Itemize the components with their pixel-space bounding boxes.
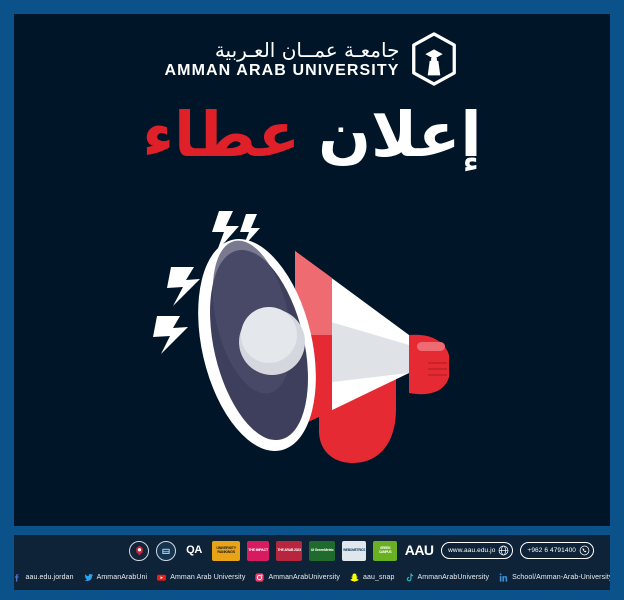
social-label-linkedin: School/Amman-Arab-University bbox=[512, 574, 610, 581]
social-link-snapchat[interactable]: aau_snap bbox=[349, 572, 395, 583]
youtube-icon bbox=[156, 572, 167, 583]
green-campus-label: GREEN CAMPUS bbox=[374, 547, 396, 554]
social-label-youtube: Amman Arab University bbox=[170, 574, 245, 581]
the-impact-label: THE IMPACT bbox=[248, 549, 268, 553]
jordan-emblem-icon bbox=[133, 544, 146, 557]
university-logo-header: جامعـة عمــان العـربية AMMAN ARAB UNIVER… bbox=[14, 14, 610, 98]
facebook-icon bbox=[14, 572, 22, 583]
phone-icon bbox=[579, 545, 590, 556]
hcac-badge bbox=[156, 541, 176, 561]
globe-icon bbox=[498, 545, 509, 556]
snapchat-icon bbox=[349, 572, 360, 583]
the-arab-label: THE ARAB 2023 bbox=[277, 549, 300, 553]
website-badge[interactable]: www.aau.edu.jo bbox=[441, 542, 513, 559]
university-ranking-label: UNIVERSITY RANKINGS bbox=[213, 547, 239, 555]
social-label-instagram: AmmanArabUniversity bbox=[268, 574, 340, 581]
social-link-youtube[interactable]: Amman Arab University bbox=[156, 572, 245, 583]
illustration-container bbox=[14, 166, 610, 526]
aau-monogram-label: AAU bbox=[405, 543, 434, 558]
ui-greenmetric-label: UI GreenMetric bbox=[311, 549, 334, 553]
megaphone-diaphragm-light bbox=[241, 307, 297, 363]
the-arab-ranking-badge: THE ARAB 2023 bbox=[276, 541, 302, 561]
social-link-tiktok[interactable]: AmmanArabUniversity bbox=[404, 572, 490, 583]
qa-badge: QA bbox=[183, 542, 205, 560]
announcement-poster: جامعـة عمــان العـربية AMMAN ARAB UNIVER… bbox=[0, 0, 624, 600]
footer-divider bbox=[14, 526, 610, 535]
hexagon-graduate-emblem-icon bbox=[409, 32, 459, 86]
hcac-icon bbox=[160, 545, 172, 557]
phone-badge-label: +962 6 4791400 bbox=[527, 547, 576, 554]
logo-arabic-name: جامعـة عمــان العـربية bbox=[215, 40, 400, 60]
linkedin-icon bbox=[498, 572, 509, 583]
accreditation-row: QA UNIVERSITY RANKINGS THE IMPACT THE AR… bbox=[14, 535, 610, 564]
megaphone-illustration-icon bbox=[147, 195, 477, 480]
aau-monogram: AAU bbox=[404, 542, 434, 560]
social-link-instagram[interactable]: AmmanArabUniversity bbox=[254, 572, 340, 583]
qa-badge-label: QA bbox=[186, 545, 202, 557]
social-label-twitter: AmmanArabUni bbox=[97, 574, 148, 581]
webometrics-label: WEBOMETRICS bbox=[343, 549, 365, 552]
headline-word-white: إعلان bbox=[318, 98, 482, 171]
social-label-facebook: aau.edu.jordan bbox=[25, 574, 73, 581]
megaphone-cap-highlight bbox=[417, 342, 445, 351]
logo-english-name: AMMAN ARAB UNIVERSITY bbox=[165, 63, 400, 79]
poster-canvas: جامعـة عمــان العـربية AMMAN ARAB UNIVER… bbox=[14, 14, 610, 590]
social-links-row: aau.edu.jordan AmmanArabUni Amman Arab U… bbox=[14, 564, 610, 590]
jordan-emblem-badge bbox=[129, 541, 149, 561]
tiktok-icon bbox=[404, 572, 415, 583]
logo-wordmark: جامعـة عمــان العـربية AMMAN ARAB UNIVER… bbox=[165, 40, 400, 79]
twitter-icon bbox=[83, 572, 94, 583]
university-ranking-badge: UNIVERSITY RANKINGS bbox=[212, 541, 240, 561]
the-impact-ranking-badge: THE IMPACT bbox=[247, 541, 269, 561]
social-link-linkedin[interactable]: School/Amman-Arab-University bbox=[498, 572, 610, 583]
social-link-facebook[interactable]: aau.edu.jordan bbox=[14, 572, 74, 583]
webometrics-badge: WEBOMETRICS bbox=[342, 541, 366, 561]
headline-container: إعلانعطاء bbox=[14, 98, 610, 166]
website-badge-label: www.aau.edu.jo bbox=[448, 547, 495, 554]
headline-word-red: عطاء bbox=[142, 98, 300, 171]
social-link-twitter[interactable]: AmmanArabUni bbox=[83, 572, 148, 583]
social-label-snapchat: aau_snap bbox=[363, 574, 395, 581]
green-campus-badge: GREEN CAMPUS bbox=[373, 541, 397, 561]
page-title: إعلانعطاء bbox=[142, 104, 481, 166]
instagram-icon bbox=[254, 572, 265, 583]
footer-bar: QA UNIVERSITY RANKINGS THE IMPACT THE AR… bbox=[14, 535, 610, 590]
ui-greenmetric-badge: UI GreenMetric bbox=[309, 541, 335, 561]
social-label-tiktok: AmmanArabUniversity bbox=[418, 574, 490, 581]
phone-badge[interactable]: +962 6 4791400 bbox=[520, 542, 594, 559]
